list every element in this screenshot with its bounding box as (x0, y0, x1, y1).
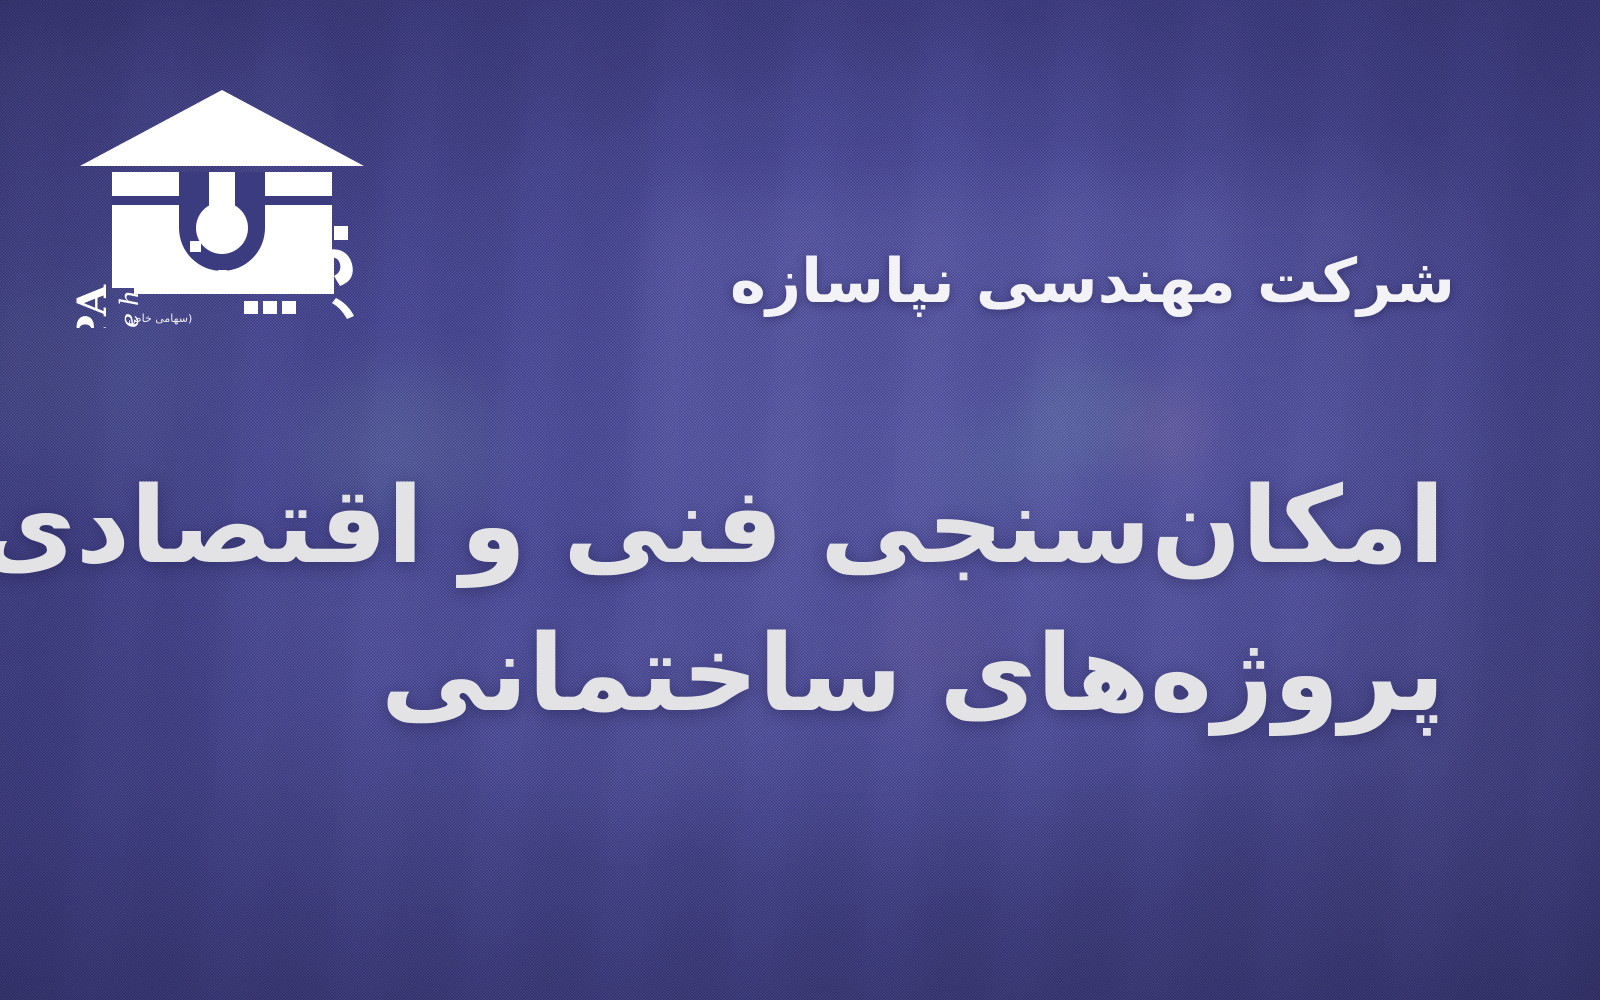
banner-canvas: NEPA sazeh (0, 0, 1600, 1000)
company-subtitle: شرکت مهندسی نپاسازه (555, 248, 1455, 316)
text-layer: شرکت مهندسی نپاسازه امکان‌سنجی فنی و اقت… (0, 0, 1600, 1000)
headline-line-2: پروژه‌های ساختمانی (105, 600, 1445, 748)
headline: امکان‌سنجی فنی و اقتصادی پروژه‌های ساختم… (105, 452, 1445, 749)
headline-line-1: امکان‌سنجی فنی و اقتصادی (105, 452, 1445, 600)
